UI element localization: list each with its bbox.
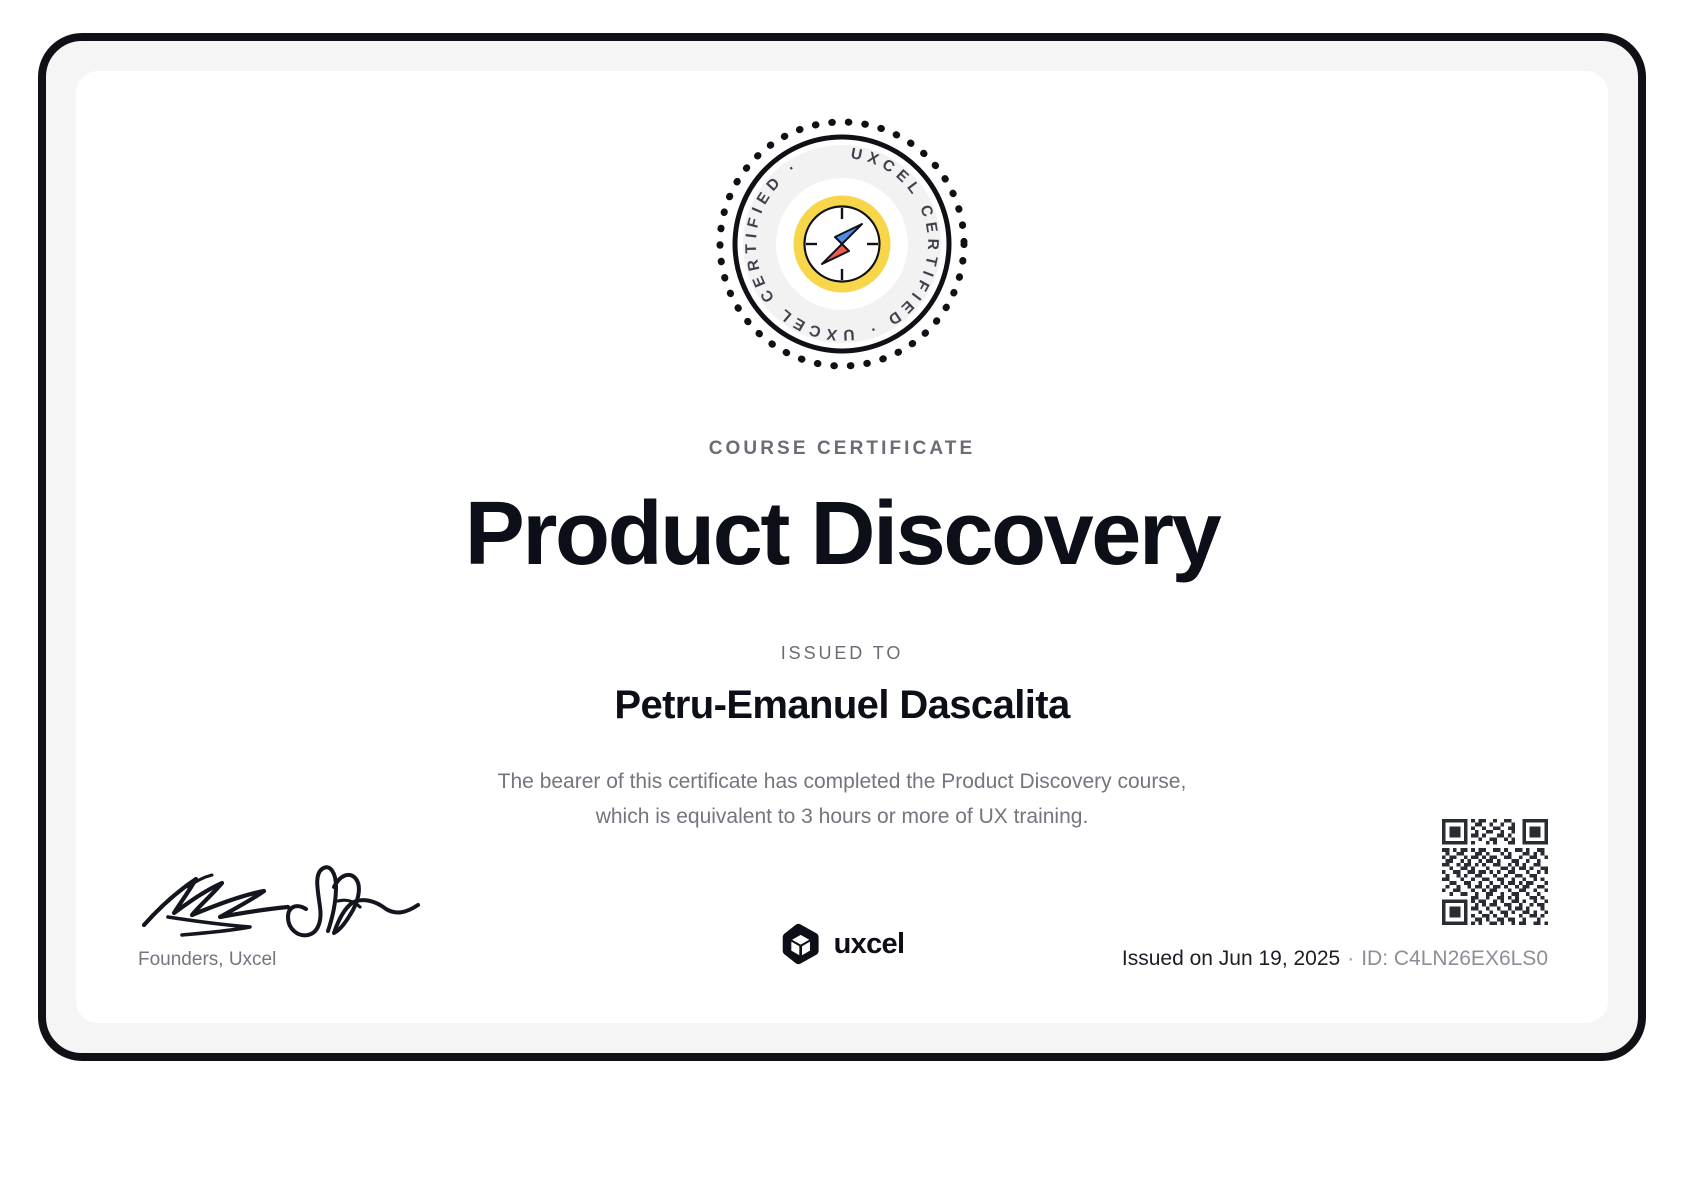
issued-meta-line: Issued on Jun 19, 2025·ID: C4LN26EX6LS0 (1122, 947, 1548, 971)
founders-signature-icon (138, 847, 428, 939)
course-title: Product Discovery (76, 486, 1608, 583)
recipient-name: Petru-Emanuel Dascalita (76, 683, 1608, 728)
meta-separator: · (1347, 947, 1354, 970)
uxcel-logo-icon (780, 923, 822, 965)
certificate-frame: UXCEL CERTIFIED · UXCEL CERTIFIED · COUR… (38, 33, 1646, 1061)
issued-on-date: Issued on Jun 19, 2025 (1122, 947, 1340, 970)
verification-qr-code[interactable] (1442, 819, 1548, 925)
certificate-id: ID: C4LN26EX6LS0 (1361, 947, 1548, 970)
certificate-meta: Issued on Jun 19, 2025·ID: C4LN26EX6LS0 (1122, 819, 1548, 971)
signature-block: Founders, Uxcel (138, 847, 468, 971)
certificate-card: UXCEL CERTIFIED · UXCEL CERTIFIED · COUR… (76, 71, 1608, 1023)
uxcel-wordmark: uxcel (834, 928, 905, 961)
seal-graphic: UXCEL CERTIFIED · UXCEL CERTIFIED · (711, 113, 973, 375)
certification-seal: UXCEL CERTIFIED · UXCEL CERTIFIED · (711, 113, 973, 375)
uxcel-brand: uxcel (780, 923, 905, 965)
issued-to-label: ISSUED TO (76, 643, 1608, 664)
description-line-1: The bearer of this certificate has compl… (76, 764, 1608, 799)
compass-icon (799, 201, 885, 287)
signature-caption: Founders, Uxcel (138, 949, 468, 971)
certificate-kicker: COURSE CERTIFICATE (76, 438, 1608, 460)
